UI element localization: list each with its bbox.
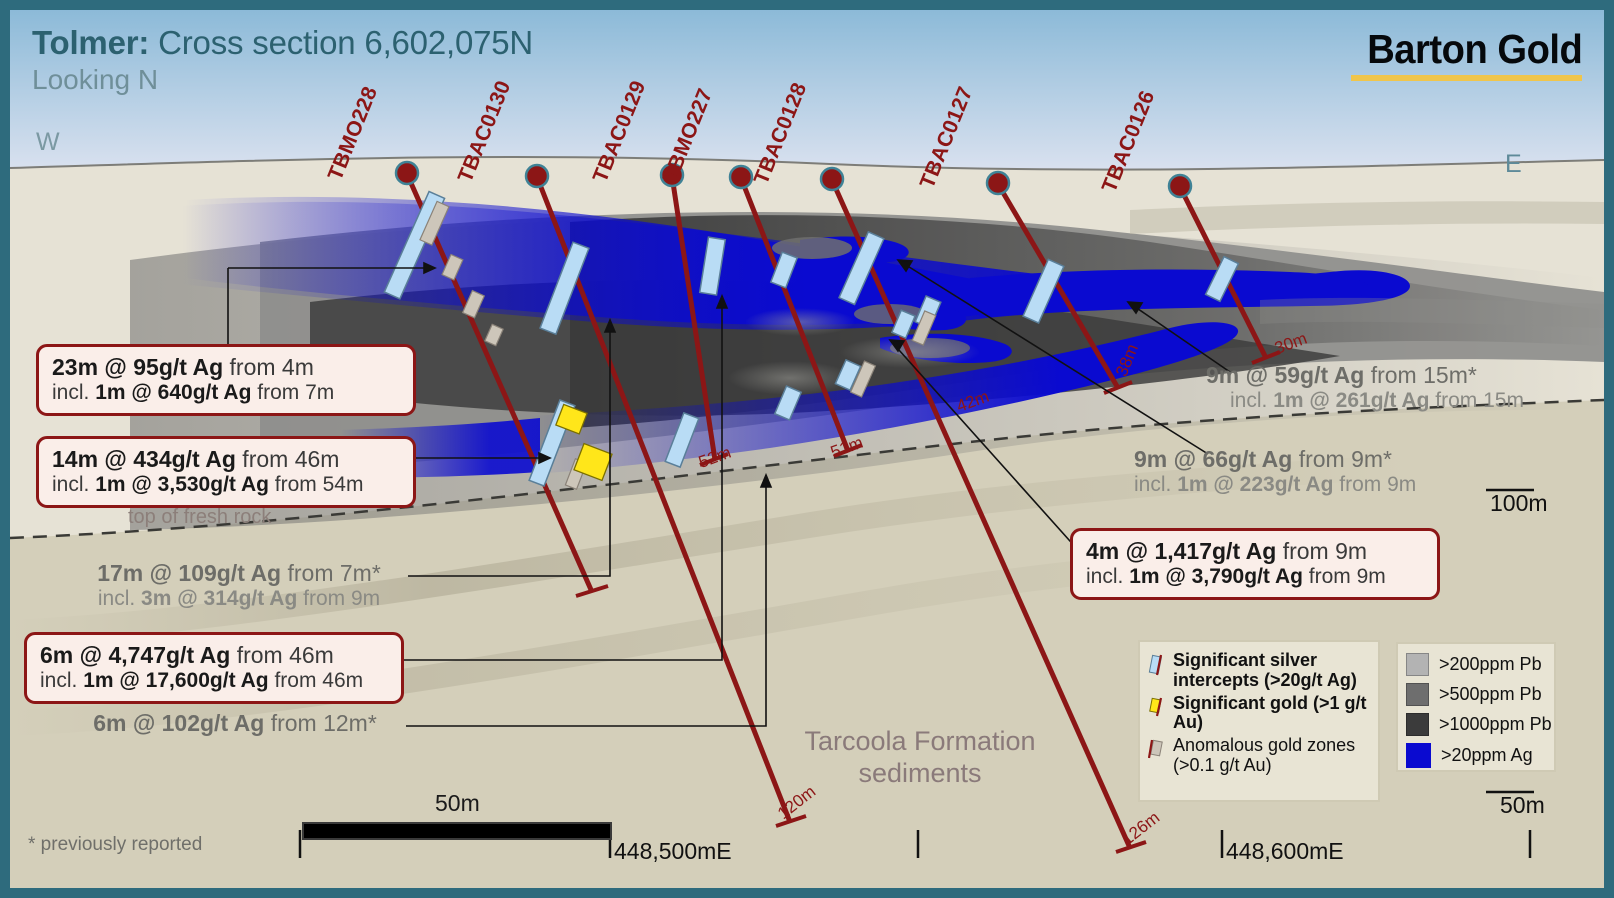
callout-14m-bold: 14m @ 434g/t Ag [52,446,236,472]
callout-23m-incl-rest: from 7m [251,381,334,404]
note-17m-incl-rest: from 9m [297,587,380,610]
previously-reported-note: * previously reported [28,834,202,856]
easting-label-448500: 448,500mE [614,838,732,865]
swatch-pb1000-icon [1406,713,1429,736]
note-9m59-rest: from 15m* [1364,362,1476,388]
figure-canvas: Tolmer: Cross section 6,602,075N Looking… [10,10,1604,888]
legend-colors: >200ppm Pb >500ppm Pb >1000ppm Pb >20ppm… [1396,642,1556,772]
legend-color-pb200-label: >200ppm Pb [1439,654,1542,675]
callout-23m-bold: 23m @ 95g/t Ag [52,354,223,380]
note-17m-rest: from 7m* [281,560,381,586]
note-9m66-bold: 9m @ 66g/t Ag [1134,446,1292,472]
legend-item-silver: Significant silver intercepts (>20g/t Ag… [1148,651,1370,691]
callout-6m-incl-bold: 1m @ 17,600g/t Ag [83,669,268,692]
note-6m102-rest: from 12m* [264,710,376,736]
note-9m66-incl-rest: from 9m [1333,473,1416,496]
callout-4m-1417: 4m @ 1,417g/t Ag from 9m incl. 1m @ 3,79… [1070,528,1440,600]
formation-line1: Tarcoola Formation [790,726,1050,758]
note-9m66-rest: from 9m* [1292,446,1392,472]
legend-color-pb500: >500ppm Pb [1406,683,1546,706]
note-9m59-incl-pre: incl. [1230,389,1273,412]
legend-color-ag20: >20ppm Ag [1406,743,1546,768]
legend-color-pb200: >200ppm Pb [1406,653,1546,676]
note-9m-66: 9m @ 66g/t Ag from 9m* incl. 1m @ 223g/t… [1134,446,1416,497]
note-6m-102: 6m @ 102g/t Ag from 12m* [70,710,400,737]
legend-item-gold-label: Significant gold (>1 g/t Au) [1173,694,1370,734]
callout-14m: 14m @ 434g/t Ag from 46m incl. 1m @ 3,53… [36,436,416,508]
legend-item-anomalous-label: Anomalous gold zones (>0.1 g/t Au) [1173,736,1370,776]
depth-label-50m: 50m [1500,792,1545,819]
anomalous-gold-icon [1148,738,1168,765]
callout-4m-incl-rest: from 9m [1303,565,1386,588]
note-9m66-incl-bold: 1m @ 223g/t Ag [1177,473,1333,496]
legend-color-pb1000-label: >1000ppm Pb [1439,714,1552,735]
logo-text: Barton Gold [1367,26,1582,73]
callout-23m-rest: from 4m [223,354,314,380]
callout-4m-rest: from 9m [1276,538,1367,564]
depth-label-100m: 100m [1490,490,1548,517]
compass-west-label: W [36,128,60,157]
legend-symbols: Significant silver intercepts (>20g/t Ag… [1138,640,1380,802]
compass-east-label: E [1505,150,1522,179]
silver-intercept-icon [1148,653,1168,682]
formation-label: Tarcoola Formation sediments [790,726,1050,790]
note-17m-incl-pre: incl. [98,587,141,610]
legend-color-ag20-label: >20ppm Ag [1441,745,1533,766]
callout-4m-bold: 4m @ 1,417g/t Ag [1086,538,1276,564]
callout-4m-incl-bold: 1m @ 3,790g/t Ag [1129,565,1303,588]
callout-6m-incl-rest: from 46m [269,669,364,692]
logo-underline [1351,75,1582,81]
swatch-pb500-icon [1406,683,1429,706]
note-17m-incl-bold: 3m @ 314g/t Ag [141,587,297,610]
scalebar-label: 50m [435,790,480,817]
top-of-fresh-rock-label: top of fresh rock [128,506,271,529]
formation-line2: sediments [790,758,1050,790]
callout-14m-rest: from 46m [236,446,340,472]
note-9m59-bold: 9m @ 59g/t Ag [1206,362,1364,388]
callout-6m-4747: 6m @ 4,747g/t Ag from 46m incl. 1m @ 17,… [24,632,404,704]
callout-14m-incl-rest: from 54m [269,473,364,496]
legend-item-anomalous: Anomalous gold zones (>0.1 g/t Au) [1148,736,1370,776]
callout-23m-incl-bold: 1m @ 640g/t Ag [95,381,251,404]
callout-14m-incl-bold: 1m @ 3,530g/t Ag [95,473,269,496]
swatch-ag20-icon [1406,743,1431,768]
scalebar [302,822,612,840]
easting-label-448600: 448,600mE [1226,838,1344,865]
company-logo: Barton Gold [1351,26,1582,81]
note-17m: 17m @ 109g/t Ag from 7m* incl. 3m @ 314g… [74,560,404,611]
note-9m59-incl-rest: from 15m [1429,389,1524,412]
gold-intercept-icon [1148,696,1168,723]
note-6m102-bold: 6m @ 102g/t Ag [93,710,264,736]
callout-14m-incl-pre: incl. [52,473,95,496]
cross-section-figure: Tolmer: Cross section 6,602,075N Looking… [0,0,1614,898]
note-9m-59: 9m @ 59g/t Ag from 15m* incl. 1m @ 261g/… [1206,362,1524,413]
callout-23m-incl-pre: incl. [52,381,95,404]
callout-6m-rest: from 46m [230,642,334,668]
note-9m59-incl-bold: 1m @ 261g/t Ag [1273,389,1429,412]
note-17m-bold: 17m @ 109g/t Ag [97,560,281,586]
note-9m66-incl-pre: incl. [1134,473,1177,496]
callout-6m-bold: 6m @ 4,747g/t Ag [40,642,230,668]
legend-color-pb1000: >1000ppm Pb [1406,713,1546,736]
legend-item-silver-label: Significant silver intercepts (>20g/t Ag… [1173,651,1370,691]
callout-4m-incl-pre: incl. [1086,565,1129,588]
legend-item-gold: Significant gold (>1 g/t Au) [1148,694,1370,734]
callout-23m: 23m @ 95g/t Ag from 4m incl. 1m @ 640g/t… [36,344,416,416]
callout-6m-incl-pre: incl. [40,669,83,692]
legend-color-pb500-label: >500ppm Pb [1439,684,1542,705]
swatch-pb200-icon [1406,653,1429,676]
